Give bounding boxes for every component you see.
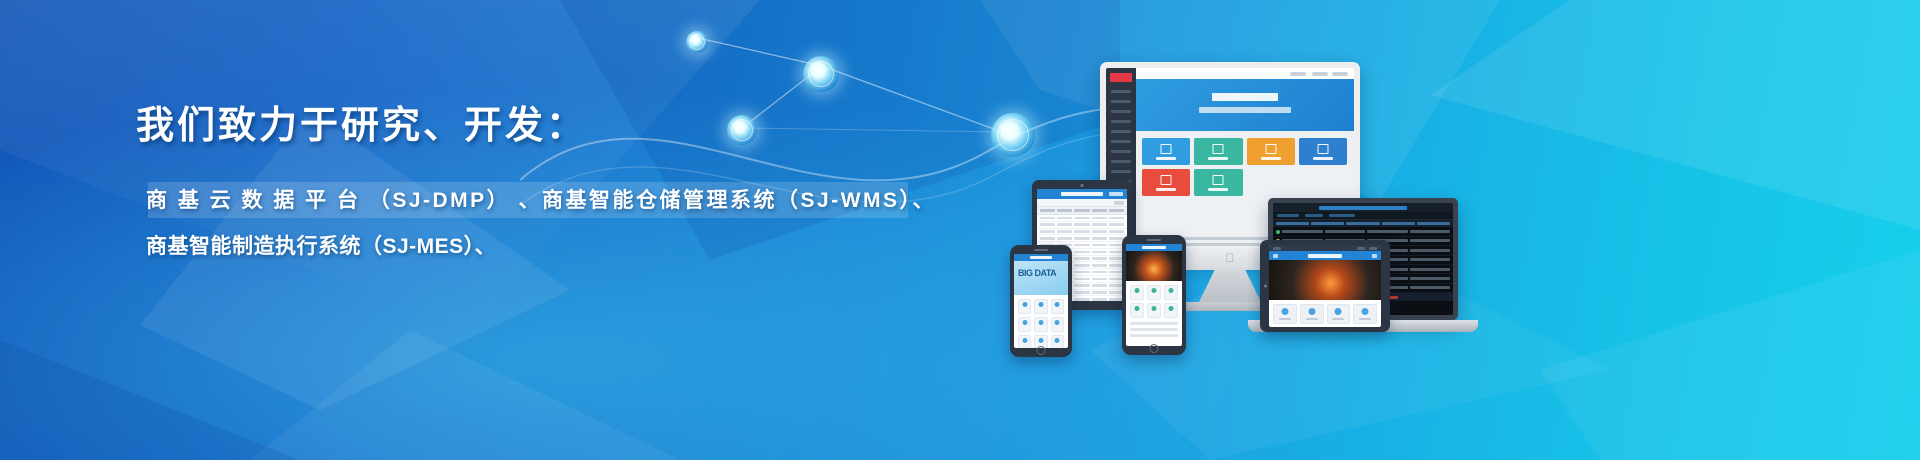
grid-item[interactable]	[1164, 303, 1178, 318]
list-item	[1130, 322, 1178, 325]
tablet-mockup-right	[1260, 240, 1390, 332]
apple-logo-icon: 	[1226, 253, 1235, 264]
table-row	[1037, 215, 1127, 222]
pencil-icon	[1213, 175, 1224, 185]
tablet-navbar	[1269, 251, 1381, 260]
card-item[interactable]	[1327, 304, 1351, 324]
grid-item[interactable]	[1034, 299, 1047, 314]
gear-icon	[1265, 144, 1276, 154]
table-row	[1273, 227, 1453, 236]
glow-node-icon	[686, 31, 708, 53]
camera-icon	[1081, 184, 1084, 187]
tablet-table-header	[1037, 207, 1127, 215]
card-item[interactable]	[1353, 304, 1377, 324]
tablet-toolbar	[1037, 199, 1127, 207]
menu-icon	[1109, 192, 1123, 196]
imac-hero-title	[1212, 93, 1278, 101]
hero-banner: 我们致力于研究、开发： 商 基 云 数 据 平 台 （SJ-DMP） 、商基智能…	[0, 0, 1920, 460]
phone-screen	[1126, 244, 1182, 346]
grid-item[interactable]	[1130, 285, 1144, 300]
phone-icon-grid	[1126, 281, 1182, 322]
tile-user-center[interactable]	[1299, 138, 1347, 165]
sidebar-item	[1111, 140, 1131, 143]
camera-icon	[1264, 285, 1267, 288]
imac-stand	[1198, 270, 1262, 304]
grid-item[interactable]	[1018, 317, 1031, 332]
big-data-label: BIG DATA	[1018, 269, 1056, 278]
sidebar-item	[1111, 120, 1131, 123]
more-icon[interactable]	[1372, 254, 1377, 258]
glow-node-icon	[803, 56, 839, 92]
sidebar-item	[1111, 90, 1131, 93]
card-item[interactable]	[1273, 304, 1297, 324]
speaker-icon	[1034, 249, 1048, 251]
home-button[interactable]	[1037, 346, 1046, 355]
chart-icon	[1213, 144, 1224, 154]
export-button[interactable]	[1114, 201, 1124, 205]
glow-node-icon	[727, 115, 757, 145]
grid-item[interactable]	[1051, 299, 1064, 314]
subcopy-line-2: 商基智能制造执行系统（SJ-MES）、	[146, 224, 936, 270]
grid-item[interactable]	[1018, 335, 1031, 348]
device-mockup-cluster: 	[1010, 40, 1530, 360]
grid-item[interactable]	[1164, 285, 1178, 300]
hero-photo	[1126, 251, 1182, 281]
laptop-subbar	[1273, 212, 1453, 220]
avatar	[1332, 72, 1348, 76]
tile-message-center[interactable]	[1142, 169, 1190, 196]
subcopy-line-1: 商 基 云 数 据 平 台 （SJ-DMP） 、商基智能仓储管理系统（SJ-WM…	[146, 178, 936, 224]
imac-hero	[1136, 79, 1354, 131]
imac-tile-grid	[1142, 138, 1347, 196]
tile-data-monitor[interactable]	[1247, 138, 1295, 165]
user-icon	[1317, 144, 1328, 154]
banner-subcopy: 商 基 云 数 据 平 台 （SJ-DMP） 、商基智能仓储管理系统（SJ-WM…	[146, 178, 936, 270]
hero-photo	[1269, 260, 1381, 300]
grid-item[interactable]	[1051, 317, 1064, 332]
sidebar-item	[1111, 150, 1131, 153]
laptop-table-header	[1273, 220, 1453, 227]
mail-icon	[1161, 175, 1172, 185]
phone-navbar	[1014, 254, 1068, 261]
sidebar-item	[1111, 110, 1131, 113]
sidebar-item	[1111, 160, 1131, 163]
topbar-control	[1290, 72, 1306, 76]
grid-item[interactable]	[1051, 335, 1064, 348]
tablet-screen	[1269, 245, 1381, 327]
banner-headline: 我们致力于研究、开发：	[136, 94, 587, 149]
table-row	[1037, 229, 1127, 236]
phone-navbar	[1126, 244, 1182, 251]
phone-mockup-right	[1122, 235, 1186, 355]
grid-item[interactable]	[1147, 285, 1161, 300]
sidebar-item	[1111, 170, 1131, 173]
wifi-icon	[1357, 247, 1365, 250]
search-icon	[1312, 72, 1328, 76]
tile-enterprise-site[interactable]	[1142, 138, 1190, 165]
home-button[interactable]	[1150, 344, 1159, 353]
speaker-icon	[1147, 239, 1161, 241]
phone-icon-grid	[1014, 295, 1068, 348]
grid-item[interactable]	[1147, 303, 1161, 318]
back-icon[interactable]	[1273, 254, 1278, 258]
sidebar-item	[1111, 130, 1131, 133]
imac-hero-subtitle	[1199, 107, 1291, 113]
phone-list	[1126, 322, 1182, 337]
tablet-card-row	[1269, 300, 1381, 327]
phone-mockup-left: BIG DATA	[1010, 245, 1072, 357]
grid-item[interactable]	[1130, 303, 1144, 318]
brand-logo-icon	[1110, 73, 1132, 82]
monitor-icon	[1161, 144, 1172, 154]
grid-item[interactable]	[1018, 299, 1031, 314]
laptop-title-bar	[1273, 203, 1453, 212]
phone-screen: BIG DATA	[1014, 254, 1068, 348]
table-row	[1037, 222, 1127, 229]
battery-icon	[1369, 247, 1377, 250]
sidebar-item	[1111, 100, 1131, 103]
list-item	[1130, 334, 1178, 337]
list-item	[1130, 328, 1178, 331]
tablet-header	[1037, 189, 1127, 199]
phone-hero: BIG DATA	[1014, 261, 1068, 295]
status-badge	[1276, 230, 1280, 234]
tile-system-settings[interactable]	[1194, 169, 1242, 196]
tile-business-mgmt[interactable]	[1194, 138, 1242, 165]
table-row	[1037, 235, 1127, 242]
card-item[interactable]	[1300, 304, 1324, 324]
grid-item[interactable]	[1034, 317, 1047, 332]
